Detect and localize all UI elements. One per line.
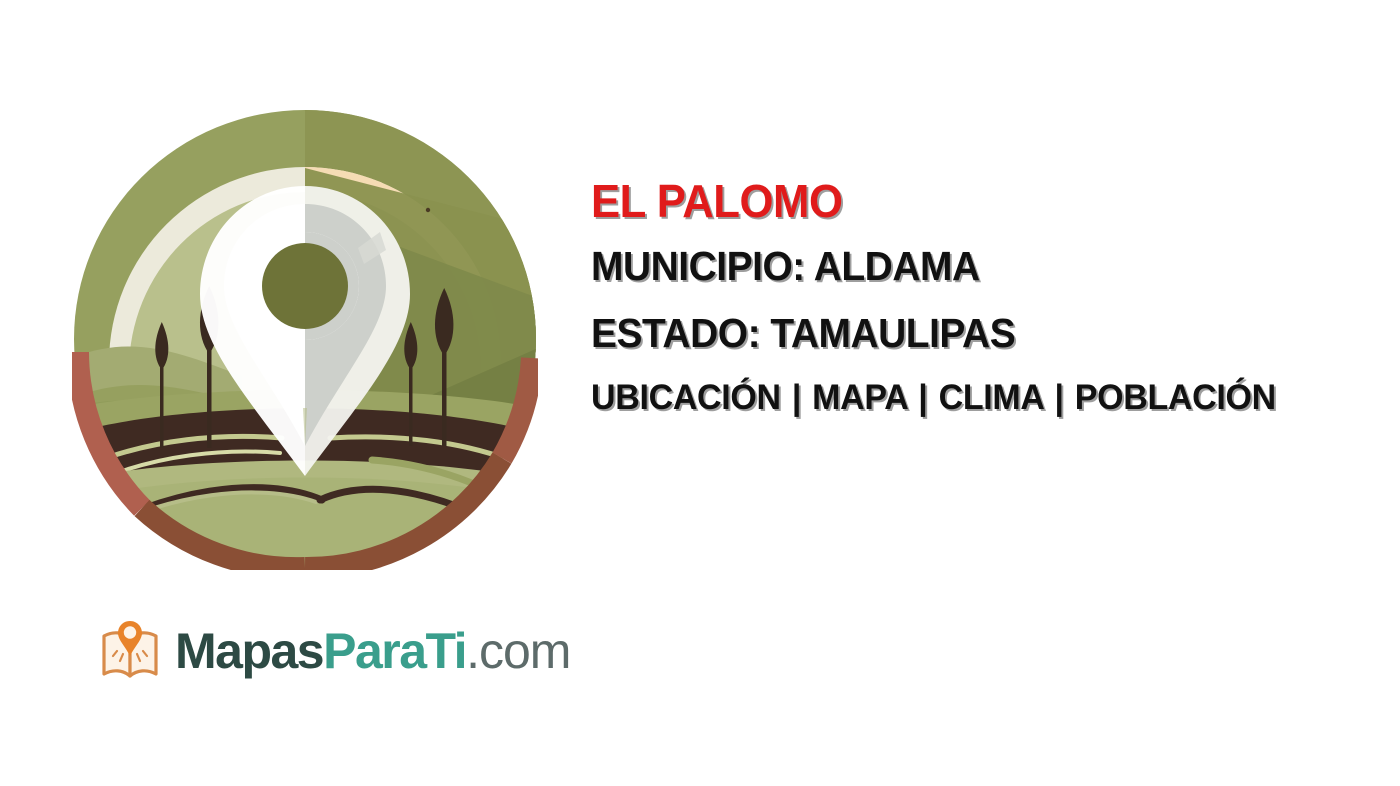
municipio-line: MUNICIPIO: ALDAMA [591, 246, 1342, 287]
open-book-with-map-pin-icon [99, 618, 161, 684]
nav-link-mapa[interactable]: MAPA [812, 378, 907, 417]
brand-word-dotcom: .com [466, 623, 570, 679]
page-title: EL PALOMO [591, 178, 1342, 224]
brand-word-parati: ParaTi [323, 623, 466, 679]
nav-links-row: UBICACIÓN | MAPA | CLIMA | POBLACIÓN [591, 380, 1357, 415]
nav-link-poblacion[interactable]: POBLACIÓN [1075, 378, 1276, 417]
circular-landscape-badge-illustration [72, 108, 538, 570]
nav-separator-2: | [916, 378, 929, 417]
nav-link-clima[interactable]: CLIMA [939, 378, 1044, 417]
place-info-block: EL PALOMO MUNICIPIO: ALDAMA ESTADO: TAMA… [591, 178, 1381, 415]
brand-wordmark[interactable]: MapasParaTi.com [175, 626, 570, 676]
nav-link-ubicacion[interactable]: UBICACIÓN [591, 378, 781, 417]
brand-word-mapas: Mapas [175, 623, 323, 679]
estado-line: ESTADO: TAMAULIPAS [591, 313, 1342, 354]
speck-artifact [426, 208, 430, 212]
nav-separator-1: | [790, 378, 803, 417]
nav-separator-3: | [1053, 378, 1066, 417]
brand-lockup[interactable]: MapasParaTi.com [99, 618, 570, 684]
page-root: EL PALOMO MUNICIPIO: ALDAMA ESTADO: TAMA… [0, 0, 1400, 786]
